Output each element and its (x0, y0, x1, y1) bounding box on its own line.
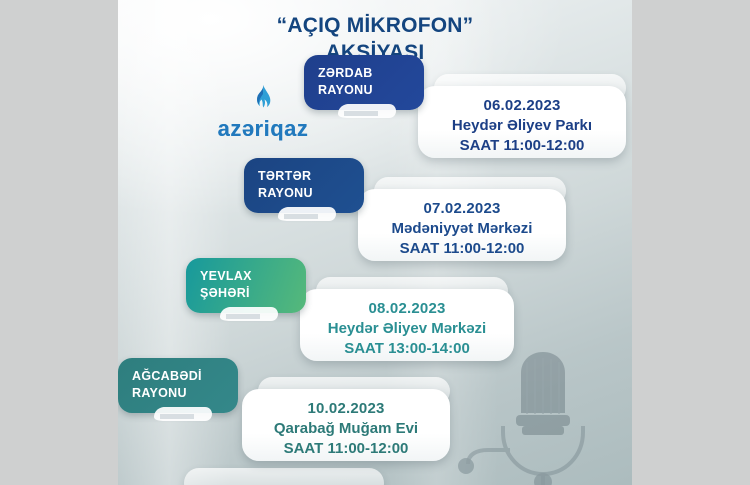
poster-screenshot: “AÇIQ MİKROFON” AKSİYASI azəriqaz ZƏRDAB… (0, 0, 750, 485)
event-date-3: 08.02.2023 (310, 300, 504, 317)
event-venue-2: Mədəniyyət Mərkəzi (368, 217, 556, 237)
event-time-1: SAAT 11:00-12:00 (428, 134, 616, 154)
event-venue-4: Qarabağ Muğam Evi (252, 417, 440, 437)
card-ghost-bottom (184, 468, 384, 485)
region-badge-2-line2: RAYONU (258, 185, 350, 202)
event-date-2: 07.02.2023 (368, 200, 556, 217)
flame-icon (250, 84, 276, 114)
event-date-4: 10.02.2023 (252, 400, 440, 417)
region-badge-2[interactable]: TƏRTƏR RAYONU (244, 158, 364, 213)
region-badge-4-line1: AĞCABƏDİ (132, 368, 224, 385)
region-badge-4-line2: RAYONU (132, 385, 224, 402)
brand-wordmark: azəriqaz (178, 116, 348, 142)
event-venue-3: Heydər Əliyev Mərkəzi (310, 317, 504, 337)
region-badge-4[interactable]: AĞCABƏDİ RAYONU (118, 358, 238, 413)
region-badge-2-line1: TƏRTƏR (258, 168, 350, 185)
region-badge-3[interactable]: YEVLAX ŞƏHƏRİ (186, 258, 306, 313)
event-date-1: 06.02.2023 (428, 97, 616, 114)
event-time-3: SAAT 13:00-14:00 (310, 337, 504, 357)
title-line-1: “AÇIQ MİKROFON” (118, 0, 632, 38)
region-badge-1-line1: ZƏRDAB (318, 65, 410, 82)
event-card-4[interactable]: 10.02.2023 Qarabağ Muğam Evi SAAT 11:00-… (242, 389, 450, 461)
event-card-3[interactable]: 08.02.2023 Heydər Əliyev Mərkəzi SAAT 13… (300, 289, 514, 361)
event-venue-1: Heydər Əliyev Parkı (428, 114, 616, 134)
event-card-1[interactable]: 06.02.2023 Heydər Əliyev Parkı SAAT 11:0… (418, 86, 626, 158)
letterbox-right (632, 0, 750, 485)
region-badge-1[interactable]: ZƏRDAB RAYONU (304, 55, 424, 110)
region-badge-3-line2: ŞƏHƏRİ (200, 285, 292, 302)
region-badge-1-line2: RAYONU (318, 82, 410, 99)
event-time-2: SAAT 11:00-12:00 (368, 237, 556, 257)
letterbox-left (0, 0, 118, 485)
region-badge-3-line1: YEVLAX (200, 268, 292, 285)
event-time-4: SAAT 11:00-12:00 (252, 437, 440, 457)
event-card-2[interactable]: 07.02.2023 Mədəniyyət Mərkəzi SAAT 11:00… (358, 189, 566, 261)
poster-canvas: “AÇIQ MİKROFON” AKSİYASI azəriqaz ZƏRDAB… (118, 0, 632, 485)
